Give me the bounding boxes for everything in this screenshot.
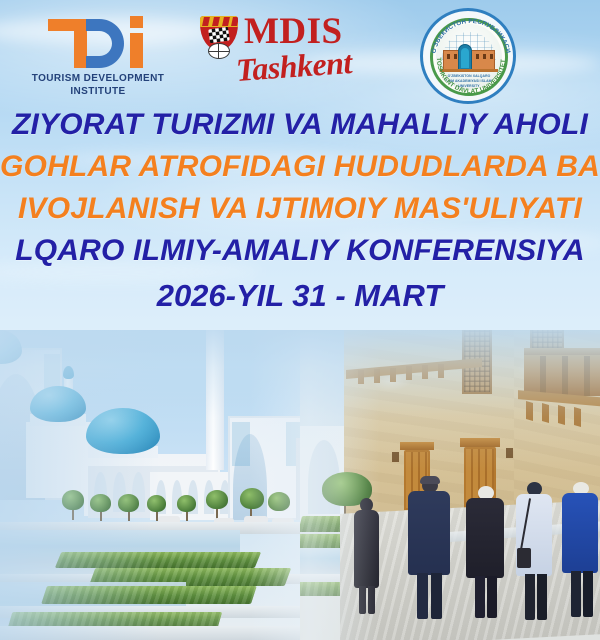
mdis-crest-icon — [200, 16, 238, 60]
hero-photo-scene — [0, 330, 600, 640]
person-figure — [352, 498, 380, 618]
title-block: ZIYORAT TURIZMI VA MAHALLIY AHOLI GOHLAR… — [0, 104, 600, 320]
logo-mdis: MDIS Tashkent — [198, 12, 358, 102]
seal-arc-top: О'ЗБЕКИСТОН РЕСПУБЛИКАСИ — [430, 18, 511, 54]
old-town-illustration — [300, 330, 600, 640]
person-figure — [562, 482, 598, 622]
logo-university-seal: O'ZBEKISTON XALQARO ISLOM AKADEMIYASI IS… — [420, 8, 516, 104]
title-line-3: IVOJLANISH VA IJTIMOIY MAS'ULIYATI — [0, 188, 600, 230]
person-figure — [408, 478, 450, 624]
logo-header: TOURISM DEVELOPMENT INSTITUTE MDIS Tashk… — [0, 0, 600, 108]
mdis-city: Tashkent — [235, 44, 353, 88]
tdi-wordmark-icon — [48, 16, 146, 68]
logo-tdi: TOURISM DEVELOPMENT INSTITUTE — [18, 16, 178, 102]
svg-text:О'ЗБЕКИСТОН РЕСПУБЛИКАСИ: О'ЗБЕКИСТОН РЕСПУБЛИКАСИ — [430, 18, 511, 54]
tdi-name-line1: TOURISM DEVELOPMENT — [18, 72, 178, 85]
tdi-name-line2: INSTITUTE — [18, 85, 178, 98]
title-line-2: GOHLAR ATROFIDAGI HUDUDLARDA BA — [0, 146, 600, 188]
conference-poster: TOURISM DEVELOPMENT INSTITUTE MDIS Tashk… — [0, 0, 600, 640]
conference-date: 2026-YIL 31 - MART — [0, 272, 600, 320]
seal-ring-text: О'ЗБЕКИСТОН РЕСПУБЛИКАСИ TOSHKENT DAVLAT… — [423, 11, 519, 107]
title-line-4: LQARO ILMIY-AMALIY KONFERENSIYA — [0, 230, 600, 272]
tdi-name: TOURISM DEVELOPMENT INSTITUTE — [18, 72, 178, 98]
mosque-illustration — [0, 330, 330, 640]
person-figure — [516, 482, 552, 624]
person-figure — [466, 486, 504, 624]
title-line-1: ZIYORAT TURIZMI VA MAHALLIY AHOLI — [0, 104, 600, 146]
